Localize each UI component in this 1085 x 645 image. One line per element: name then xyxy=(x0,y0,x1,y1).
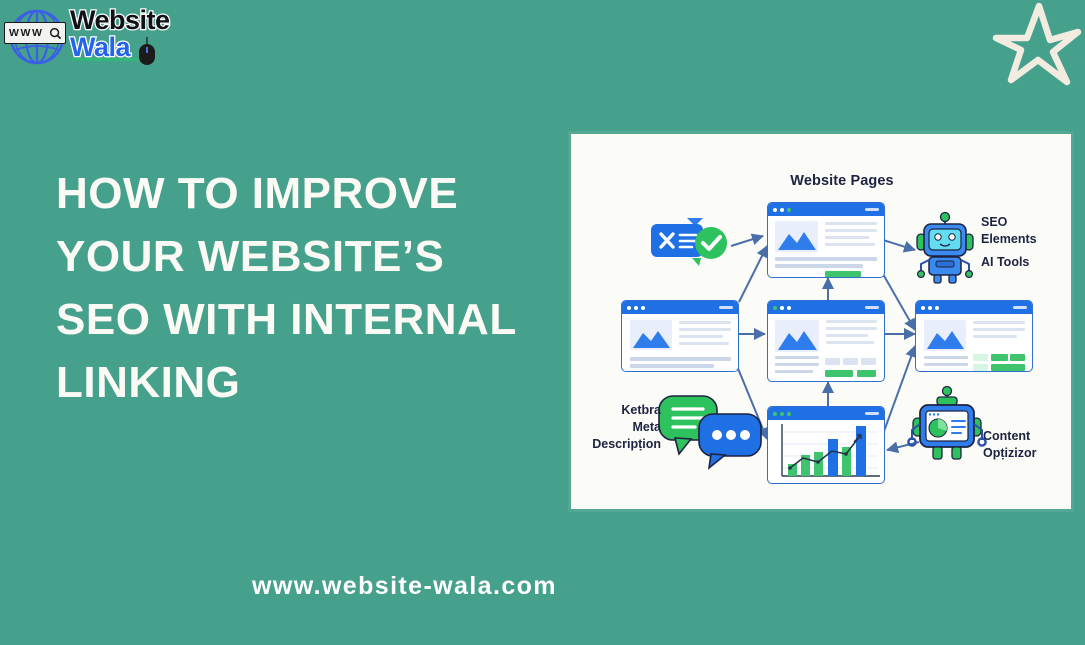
card-titlebar xyxy=(622,301,738,314)
page-card-left[interactable] xyxy=(621,300,739,372)
page-card-right[interactable] xyxy=(915,300,1033,372)
chart-area xyxy=(768,420,884,483)
highlight-bar xyxy=(1010,354,1025,361)
text-line xyxy=(924,356,968,359)
growth-bar-chart xyxy=(768,420,885,483)
text-line xyxy=(630,364,714,368)
text-line xyxy=(826,334,868,337)
window-dot xyxy=(928,306,932,310)
page-title: How to Improve Your Website’s SEO With I… xyxy=(56,162,526,414)
seo-label-line2: Elements xyxy=(981,231,1037,248)
window-dot xyxy=(780,208,784,212)
text-line xyxy=(973,328,1025,331)
seo-elements-ai-tools-label: SEO Elements AI Tools xyxy=(981,214,1037,271)
text-line xyxy=(775,370,813,373)
window-minimize-icon xyxy=(865,412,879,415)
text-line xyxy=(775,264,863,268)
text-line xyxy=(826,341,874,344)
text-line xyxy=(825,222,877,225)
content-label-line2: Opṭizizor xyxy=(983,445,1036,462)
search-bar-www[interactable]: WWW xyxy=(4,22,66,44)
meta-label-line2: Meta xyxy=(583,419,661,436)
brand-line-website: Website xyxy=(70,6,170,34)
card-titlebar xyxy=(916,301,1032,314)
highlight-bar xyxy=(991,354,1008,361)
text-line xyxy=(973,321,1025,324)
x-checklist-badge-icon xyxy=(649,214,733,270)
card-titlebar xyxy=(768,203,884,216)
text-line xyxy=(825,243,875,246)
seo-robot-icon xyxy=(916,212,974,284)
image-placeholder xyxy=(924,320,966,351)
seo-internal-linking-illustration: Website Pages xyxy=(568,131,1074,512)
page-card-chart[interactable] xyxy=(767,406,885,484)
card-body xyxy=(768,314,884,326)
tag-chip-light xyxy=(973,364,988,371)
website-url: www.website-wala.com xyxy=(252,572,557,601)
tag-chip xyxy=(861,358,876,365)
window-dot xyxy=(627,306,631,310)
card-body xyxy=(916,314,1032,326)
window-dot xyxy=(935,306,939,310)
text-line xyxy=(825,236,869,239)
text-line xyxy=(679,335,723,338)
tag-chip xyxy=(825,358,840,365)
meta-label-line1: Ketbra xyxy=(583,402,661,419)
window-dot-active xyxy=(787,208,791,212)
window-minimize-icon xyxy=(719,306,733,309)
seo-label-line3: AI Tools xyxy=(981,254,1037,271)
page-card-center[interactable] xyxy=(767,300,885,382)
blue-chat-bubble-dots-icon xyxy=(699,414,761,468)
image-placeholder xyxy=(775,320,819,352)
meta-description-label: Ketbra Meta Descripṭion xyxy=(583,402,661,453)
highlight-bar xyxy=(857,370,876,377)
page-card-top[interactable] xyxy=(767,202,885,278)
window-dot-active xyxy=(773,412,777,416)
window-minimize-icon xyxy=(865,208,879,211)
card-titlebar xyxy=(768,301,884,314)
text-line xyxy=(679,321,731,324)
text-line xyxy=(775,257,877,261)
content-optimizer-robot-icon xyxy=(911,386,983,462)
window-minimize-icon xyxy=(865,306,879,309)
poster-canvas: WWW Website Wala How to I xyxy=(0,0,1085,645)
content-optimizer-label: Content Opṭizizor xyxy=(983,428,1036,462)
highlight-bar xyxy=(825,271,861,277)
text-line xyxy=(826,320,877,323)
magnifier-icon xyxy=(49,27,62,40)
image-placeholder xyxy=(630,320,672,350)
text-line xyxy=(826,327,877,330)
window-dot xyxy=(634,306,638,310)
card-body xyxy=(622,314,738,326)
text-line xyxy=(679,342,729,345)
text-line xyxy=(973,335,1017,338)
highlight-bar xyxy=(991,364,1025,371)
window-dot-active xyxy=(787,412,791,416)
search-bar-label: WWW xyxy=(9,27,44,39)
window-dot-active xyxy=(773,306,777,310)
computer-mouse-icon xyxy=(134,36,160,66)
meta-label-line3: Descripṭion xyxy=(583,436,661,453)
card-titlebar xyxy=(768,407,884,420)
window-dot xyxy=(787,306,791,310)
text-line xyxy=(775,363,819,366)
text-line xyxy=(630,357,731,361)
window-dot xyxy=(641,306,645,310)
window-dot xyxy=(773,208,777,212)
text-line xyxy=(924,363,968,366)
window-dot-active xyxy=(780,412,784,416)
image-placeholder xyxy=(775,221,818,252)
tag-chip-light xyxy=(973,354,988,361)
tag-chip xyxy=(843,358,858,365)
text-line xyxy=(825,229,877,232)
hand-drawn-star-icon xyxy=(993,0,1081,88)
window-minimize-icon xyxy=(1013,306,1027,309)
text-line xyxy=(775,356,819,359)
content-label-line1: Content xyxy=(983,428,1036,445)
window-dot xyxy=(780,306,784,310)
window-dot xyxy=(921,306,925,310)
text-line xyxy=(679,328,731,331)
brand-logo[interactable]: WWW Website Wala xyxy=(4,4,184,70)
card-body xyxy=(768,216,884,228)
seo-label-line1: SEO xyxy=(981,214,1037,231)
chat-bubbles-group xyxy=(657,392,767,468)
highlight-bar xyxy=(825,370,853,377)
